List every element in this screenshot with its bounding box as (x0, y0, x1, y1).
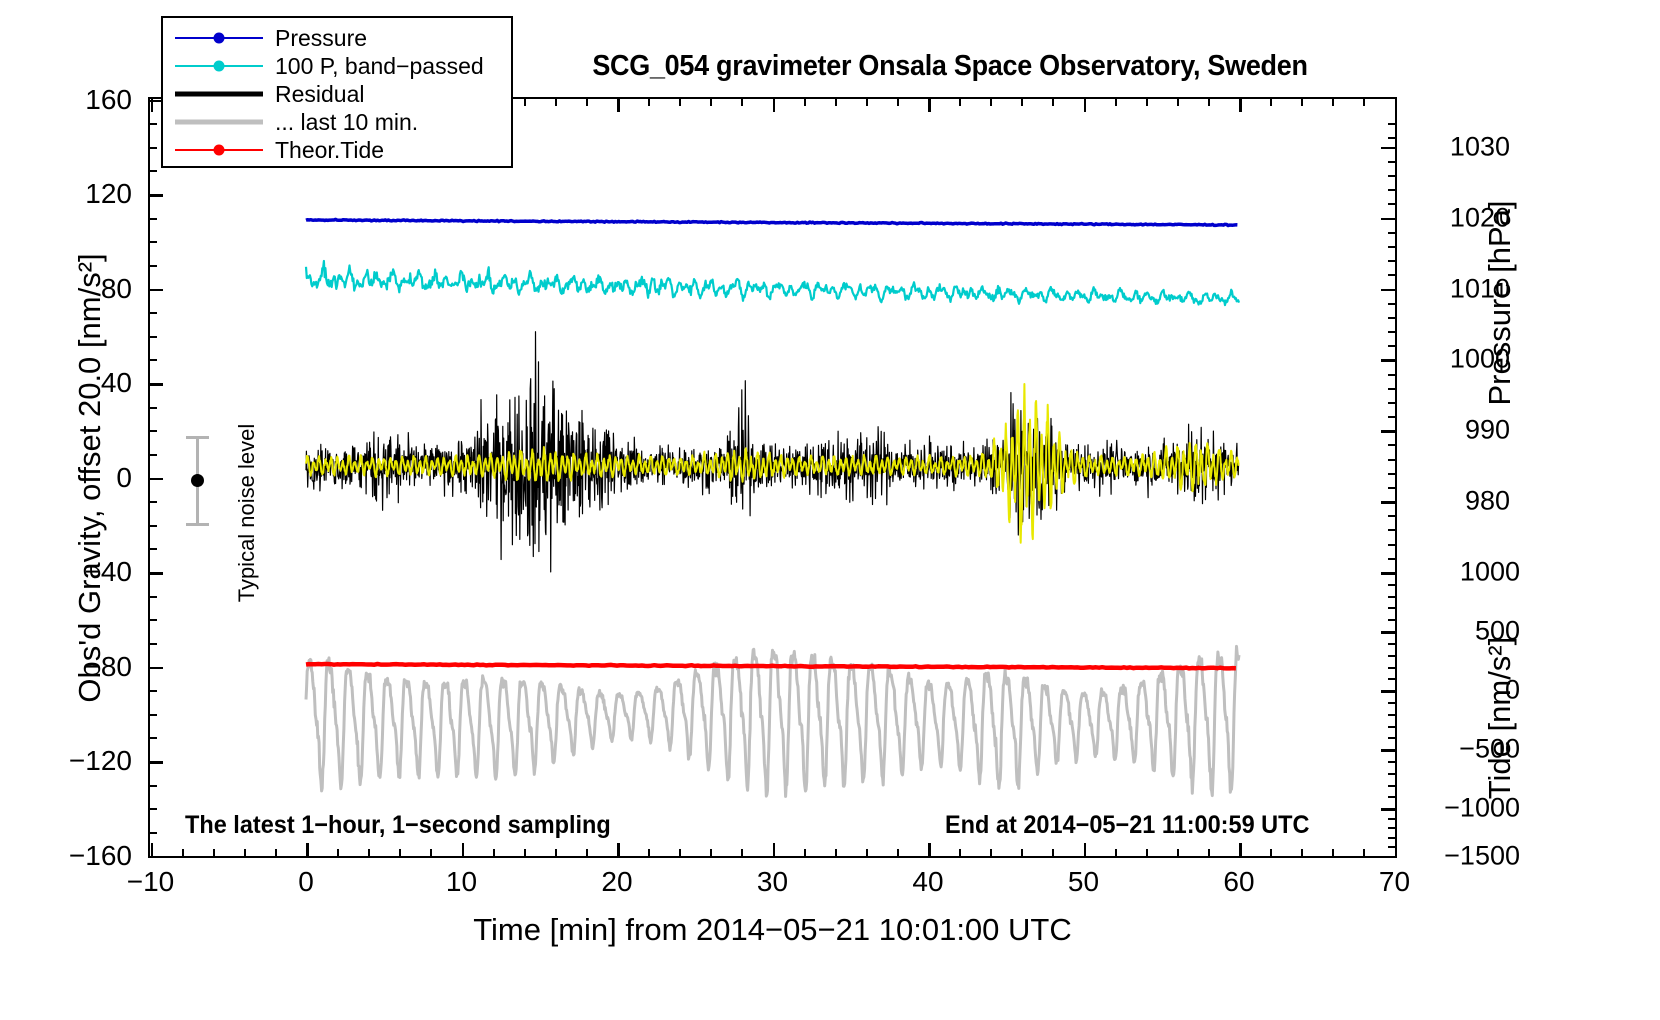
x-tick-minor (1177, 849, 1179, 858)
right-tick-minor (1388, 374, 1397, 376)
x-tick-top (1146, 97, 1148, 106)
right-tick-minor (1388, 837, 1397, 839)
right-tick-minor (1388, 846, 1397, 848)
note-sampling: The latest 1−hour, 1−second sampling (185, 811, 611, 840)
x-tick-top (1270, 97, 1272, 106)
y-tick-minor (148, 501, 157, 503)
x-tick-top (710, 97, 712, 106)
series-residual (306, 332, 1239, 572)
y-tick-minor (148, 596, 157, 598)
legend-label: Theor.Tide (275, 139, 384, 162)
right-tick-major (1381, 749, 1397, 752)
x-tick-top (1052, 97, 1054, 106)
noise-level-label: Typical noise level (234, 388, 260, 638)
right-tick-major (1381, 218, 1397, 221)
x-tick-top (1177, 97, 1179, 106)
right-tick-minor (1388, 345, 1397, 347)
right-tick-minor (1388, 544, 1397, 546)
right-tick-minor (1388, 529, 1397, 531)
x-tick-top (866, 97, 868, 106)
legend-label: ... last 10 min. (275, 111, 418, 134)
right-tick-minor (1388, 785, 1397, 787)
noise-bar-bottom-cap (186, 523, 209, 526)
right-tick-minor (1388, 473, 1397, 475)
legend-line-icon (175, 120, 263, 125)
right-tick-minor (1388, 818, 1397, 820)
x-tick-major (1084, 843, 1087, 858)
x-tick-minor (213, 849, 215, 858)
x-tick-label: 70 (1379, 866, 1410, 898)
x-tick-minor (493, 849, 495, 858)
right-tick-minor (1388, 260, 1397, 262)
series-pressure (306, 219, 1237, 225)
x-tick-label: 10 (446, 866, 477, 898)
legend-swatch-icon (175, 28, 263, 48)
x-tick-top (990, 97, 992, 106)
right-tick-minor (1388, 714, 1397, 716)
x-tick-label: 60 (1223, 866, 1254, 898)
x-tick-top (1208, 97, 1210, 106)
y-tick-minor (148, 241, 157, 243)
x-tick-minor (182, 849, 184, 858)
x-tick-minor (524, 849, 526, 858)
legend-item-3: ... last 10 min. (163, 108, 511, 136)
y-tick-minor (148, 430, 157, 432)
legend-item-0: Pressure (163, 24, 511, 52)
x-tick-top (679, 97, 681, 106)
x-tick-top (804, 97, 806, 106)
right-tick-minor (1388, 726, 1397, 728)
x-tick-major (462, 843, 465, 858)
right-tick-major (1381, 808, 1397, 811)
right-tick-minor (1388, 274, 1397, 276)
y-tick-minor (148, 525, 157, 527)
x-tick-minor (430, 849, 432, 858)
x-tick-top (928, 97, 931, 112)
legend-swatch-icon (175, 84, 263, 104)
y-tick-minor (148, 808, 157, 810)
y-tick-minor (148, 619, 157, 621)
right-tick-minor (1388, 761, 1397, 763)
y-tick-major (148, 572, 163, 575)
right-tick-minor (1388, 643, 1397, 645)
right-tick-minor (1388, 487, 1397, 489)
legend-item-2: Residual (163, 80, 511, 108)
right-tick-minor (1388, 123, 1397, 125)
x-tick-minor (648, 849, 650, 858)
legend-swatch-icon (175, 140, 263, 160)
right-tick-minor (1388, 232, 1397, 234)
x-tick-label: 40 (912, 866, 943, 898)
x-tick-top (1363, 97, 1365, 106)
x-tick-label: −10 (127, 866, 175, 898)
x-tick-minor (337, 849, 339, 858)
x-tick-minor (1208, 849, 1210, 858)
x-tick-top (1395, 97, 1398, 112)
y-tick-minor (148, 218, 157, 220)
legend-dot-icon (214, 33, 225, 44)
x-tick-major (928, 843, 931, 858)
legend-dot-icon (214, 61, 225, 72)
y-tick-minor (148, 265, 157, 267)
legend-dot-icon (214, 145, 225, 156)
y-tick-minor (148, 832, 157, 834)
right-tick-minor (1388, 137, 1397, 139)
x-axis-title: Time [min] from 2014−05−21 10:01:00 UTC (148, 912, 1397, 948)
right-tick-major (1381, 430, 1397, 433)
x-tick-minor (586, 849, 588, 858)
right-tick-minor (1388, 702, 1397, 704)
x-tick-top (524, 97, 526, 106)
right-tick-minor (1388, 203, 1397, 205)
x-tick-minor (555, 849, 557, 858)
y-axis-left-labels: 16012080400−40−80−120−160 (0, 0, 132, 1020)
x-tick-top (1021, 97, 1023, 106)
x-tick-minor (1146, 849, 1148, 858)
x-tick-top (586, 97, 588, 106)
chart-title: SCG_054 gravimeter Onsala Space Observat… (550, 50, 1350, 83)
right-tick-minor (1388, 388, 1397, 390)
right-tick-minor (1388, 444, 1397, 446)
right-tick-major (1381, 147, 1397, 150)
right-tick-major (1381, 690, 1397, 693)
y-tick-major (148, 761, 163, 764)
legend-swatch-icon (175, 56, 263, 76)
y-tick-minor (148, 336, 157, 338)
y-tick-major (148, 478, 163, 481)
x-tick-top (1115, 97, 1117, 106)
x-tick-label: 0 (298, 866, 314, 898)
y-tick-minor (148, 123, 157, 125)
y-tick-major (148, 383, 163, 386)
right-tick-minor (1388, 737, 1397, 739)
y-tick-minor (148, 690, 157, 692)
x-tick-minor (1052, 849, 1054, 858)
x-tick-top (897, 97, 899, 106)
x-tick-minor (897, 849, 899, 858)
x-tick-minor (804, 849, 806, 858)
x-tick-minor (368, 849, 370, 858)
right-tick-minor (1388, 189, 1397, 191)
x-tick-major (773, 843, 776, 858)
x-tick-major (617, 843, 620, 858)
x-tick-minor (275, 849, 277, 858)
series-band-passed (306, 261, 1239, 305)
y-tick-major (148, 289, 163, 292)
x-tick-top (1084, 97, 1087, 112)
y-tick-label: 0 (116, 462, 132, 494)
y-tick-minor (148, 548, 157, 550)
chart-legend: Pressure100 P, band−passedResidual... la… (161, 16, 513, 168)
y-tick-major (148, 194, 163, 197)
x-tick-minor (244, 849, 246, 858)
x-tick-minor (835, 849, 837, 858)
x-tick-minor (1301, 849, 1303, 858)
right-tick-major (1381, 501, 1397, 504)
right-tick-minor (1388, 827, 1397, 829)
legend-item-1: 100 P, band−passed (163, 52, 511, 80)
note-end-time: End at 2014−05−21 11:00:59 UTC (945, 811, 1309, 840)
legend-label: Residual (275, 83, 365, 106)
y-axis-left-title: Obs'd Gravity, offset 20.0 [nm/s²] (72, 98, 108, 858)
y-tick-minor (148, 643, 157, 645)
series-theor-tide (306, 664, 1236, 668)
x-tick-minor (1363, 849, 1365, 858)
y-tick-minor (148, 312, 157, 314)
y-tick-minor (148, 359, 157, 361)
y-tick-minor (148, 785, 157, 787)
y-tick-minor (148, 737, 157, 739)
right-tick-major (1381, 856, 1397, 859)
right-tick-major (1381, 572, 1397, 575)
x-tick-top (773, 97, 776, 112)
right-tick-minor (1388, 459, 1397, 461)
x-tick-minor (1332, 849, 1334, 858)
legend-label: 100 P, band−passed (275, 55, 484, 78)
right-tick-minor (1388, 317, 1397, 319)
y-tick-minor (148, 147, 157, 149)
x-tick-minor (866, 849, 868, 858)
legend-item-4: Theor.Tide (163, 136, 511, 164)
x-tick-minor (990, 849, 992, 858)
right-tick-minor (1388, 596, 1397, 598)
x-tick-minor (679, 849, 681, 858)
x-tick-minor (959, 849, 961, 858)
x-tick-minor (1115, 849, 1117, 858)
x-tick-top (151, 97, 154, 112)
x-tick-major (306, 843, 309, 858)
right-tick-major (1381, 289, 1397, 292)
x-tick-top (835, 97, 837, 106)
y-tick-minor (148, 454, 157, 456)
y-axis-tide-title: Tide [nm/s²] (1482, 548, 1518, 888)
right-tick-minor (1388, 331, 1397, 333)
x-tick-top (1301, 97, 1303, 106)
right-tick-minor (1388, 678, 1397, 680)
x-tick-minor (399, 849, 401, 858)
legend-label: Pressure (275, 27, 367, 50)
x-tick-label: 30 (757, 866, 788, 898)
x-tick-minor (710, 849, 712, 858)
right-tick-minor (1388, 667, 1397, 669)
right-tick-minor (1388, 303, 1397, 305)
right-tick-minor (1388, 416, 1397, 418)
x-tick-minor (1021, 849, 1023, 858)
y-axis-pressure-title: Pressure [hPa] (1482, 93, 1518, 513)
legend-line-icon (175, 92, 263, 97)
right-tick-minor (1388, 773, 1397, 775)
right-tick-major (1381, 359, 1397, 362)
chart-page: 16012080400−40−80−120−160 10301020101010… (0, 0, 1660, 1020)
x-tick-major (151, 843, 154, 858)
x-tick-top (741, 97, 743, 106)
right-tick-minor (1388, 619, 1397, 621)
right-tick-minor (1388, 175, 1397, 177)
right-tick-minor (1388, 161, 1397, 163)
x-tick-minor (741, 849, 743, 858)
x-tick-top (648, 97, 650, 106)
x-tick-label: 50 (1068, 866, 1099, 898)
legend-swatch-icon (175, 112, 263, 132)
right-tick-minor (1388, 515, 1397, 517)
right-tick-minor (1388, 796, 1397, 798)
right-tick-minor (1388, 402, 1397, 404)
x-tick-top (959, 97, 961, 106)
noise-center-dot (191, 474, 204, 487)
x-tick-label: 20 (601, 866, 632, 898)
x-tick-top (1239, 97, 1242, 112)
y-tick-major (148, 667, 163, 670)
right-tick-minor (1388, 607, 1397, 609)
x-tick-major (1239, 843, 1242, 858)
x-tick-top (1332, 97, 1334, 106)
chart-traces (148, 97, 1397, 858)
right-tick-minor (1388, 584, 1397, 586)
x-tick-top (555, 97, 557, 106)
x-tick-minor (1270, 849, 1272, 858)
right-tick-minor (1388, 558, 1397, 560)
y-tick-minor (148, 170, 157, 172)
y-tick-minor (148, 714, 157, 716)
x-tick-top (617, 97, 620, 112)
right-tick-minor (1388, 246, 1397, 248)
y-tick-minor (148, 407, 157, 409)
right-tick-minor (1388, 655, 1397, 657)
right-tick-major (1381, 631, 1397, 634)
